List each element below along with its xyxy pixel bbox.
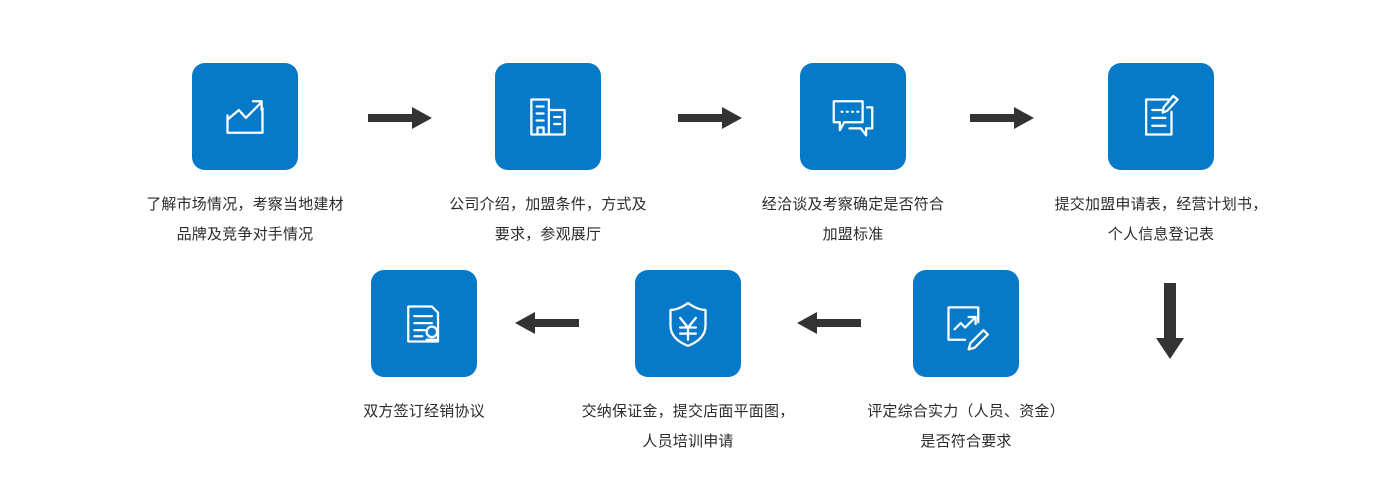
building-icon — [520, 89, 576, 145]
arrow-down-icon — [1150, 283, 1190, 363]
step-6-label: 交纳保证金，提交店面平面图， 人员培训申请 — [582, 397, 795, 457]
step-3-icon-box[interactable] — [800, 63, 906, 170]
flow-step-7[interactable]: 双方签订经销协议 — [274, 270, 574, 427]
step-6-icon-box[interactable] — [635, 270, 741, 377]
document-edit-icon — [1133, 89, 1189, 145]
flow-step-6[interactable]: 交纳保证金，提交店面平面图， 人员培训申请 — [538, 270, 838, 457]
flow-step-5[interactable]: 评定综合实力（人员、资金） 是否符合要求 — [816, 270, 1116, 457]
step-2-icon-box[interactable] — [495, 63, 601, 170]
step-4-label: 提交加盟申请表，经营计划书， 个人信息登记表 — [1055, 190, 1268, 250]
step-1-label: 了解市场情况，考察当地建材 品牌及竞争对手情况 — [146, 190, 344, 250]
flow-step-4[interactable]: 提交加盟申请表，经营计划书， 个人信息登记表 — [1011, 63, 1311, 250]
shield-yuan-icon — [660, 296, 716, 352]
step-1-icon-box[interactable] — [192, 63, 298, 170]
step-5-icon-box[interactable] — [913, 270, 1019, 377]
step-2-label: 公司介绍，加盟条件，方式及 要求，参观展厅 — [449, 190, 647, 250]
step-7-label: 双方签订经销协议 — [363, 397, 485, 427]
contract-seal-icon — [396, 296, 452, 352]
step-4-icon-box[interactable] — [1108, 63, 1214, 170]
trend-chart-icon — [217, 89, 273, 145]
flow-step-3[interactable]: 经洽谈及考察确定是否符合 加盟标准 — [703, 63, 1003, 250]
chart-review-icon — [938, 296, 994, 352]
flowchart-canvas: 了解市场情况，考察当地建材 品牌及竞争对手情况 公司介绍，加盟条件，方式及 要求… — [0, 0, 1400, 500]
step-5-label: 评定综合实力（人员、资金） 是否符合要求 — [867, 397, 1065, 457]
step-3-label: 经洽谈及考察确定是否符合 加盟标准 — [762, 190, 944, 250]
flow-step-2[interactable]: 公司介绍，加盟条件，方式及 要求，参观展厅 — [398, 63, 698, 250]
arrow-step4-to-step5 — [1150, 283, 1190, 363]
flow-step-1[interactable]: 了解市场情况，考察当地建材 品牌及竞争对手情况 — [95, 63, 395, 250]
chat-bubbles-icon — [825, 89, 881, 145]
step-7-icon-box[interactable] — [371, 270, 477, 377]
